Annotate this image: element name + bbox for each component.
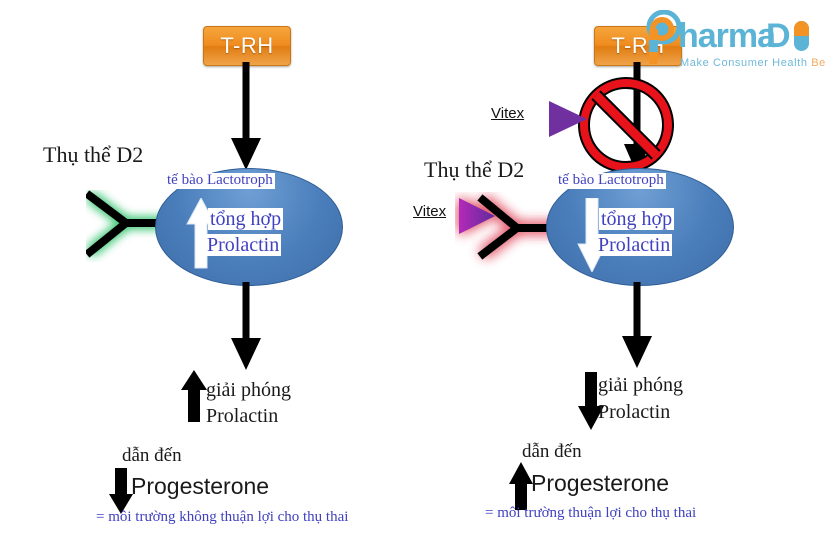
pharmadi-logo-tagline: Make Consumer Health Better (680, 53, 825, 71)
synthesis-label-left-line1: tổng hợp (208, 208, 283, 230)
release-arrow-left (180, 370, 208, 422)
arrow-cell-to-release-left (222, 282, 272, 374)
conclusion-label-right: = môi trường thuận lợi cho thụ thai (485, 505, 696, 522)
release-label-left-line2: Prolactin (206, 406, 278, 427)
hormone-box-trh-left-label: T-RH (220, 33, 273, 59)
vitex-label-top-right: Vitex (491, 105, 524, 122)
vitex-label-bottom-right: Vitex (413, 203, 446, 220)
diagram-canvas: T-RH Thụ thể D2 tế bào Lactotroph (0, 0, 825, 550)
synthesis-label-right-line2: Prolactin (596, 234, 672, 256)
receptor-label-left: Thụ thể D2 (43, 143, 143, 166)
receptor-label-right: Thụ thể D2 (424, 158, 524, 181)
conclusion-label-left: = môi trường không thuận lợi cho thụ tha… (96, 509, 348, 526)
prohibition-sign-icon (577, 76, 675, 174)
pharmadi-logo-tagline-part1: Make Consumer Health (680, 57, 811, 69)
release-label-left-line1: giải phóng (206, 380, 291, 401)
release-label-right-line2: Prolactin (598, 402, 670, 423)
leads-to-label-left: dẫn đến (122, 446, 182, 466)
synthesis-label-left-line2: Prolactin (205, 234, 281, 256)
pharmadi-logo-tagline-part2: Better (811, 57, 825, 69)
pharmadi-logo: harma D Make Consumer Health Better (640, 8, 820, 70)
pharmadi-logo-capsule-icon (792, 20, 812, 52)
progesterone-label-left: Progesterone (131, 473, 269, 500)
arrow-cell-to-release-right (613, 282, 663, 374)
leads-to-label-right: dẫn đến (522, 442, 582, 462)
synthesis-label-right-line1: tổng hợp (599, 208, 674, 230)
hormone-box-trh-left: T-RH (203, 26, 291, 66)
arrow-trh-to-cell-left (222, 62, 272, 174)
progesterone-label-right: Progesterone (531, 470, 669, 497)
release-label-right-line1: giải phóng (598, 375, 683, 396)
cell-name-label-right: tế bào Lactotroph (556, 173, 666, 189)
vitex-arrow-top-icon (547, 98, 589, 140)
pharmadi-logo-wordmark: harma (678, 17, 775, 56)
pharmadi-logo-letter-d: D (766, 17, 791, 56)
cell-name-label-left: tế bào Lactotroph (165, 173, 275, 189)
